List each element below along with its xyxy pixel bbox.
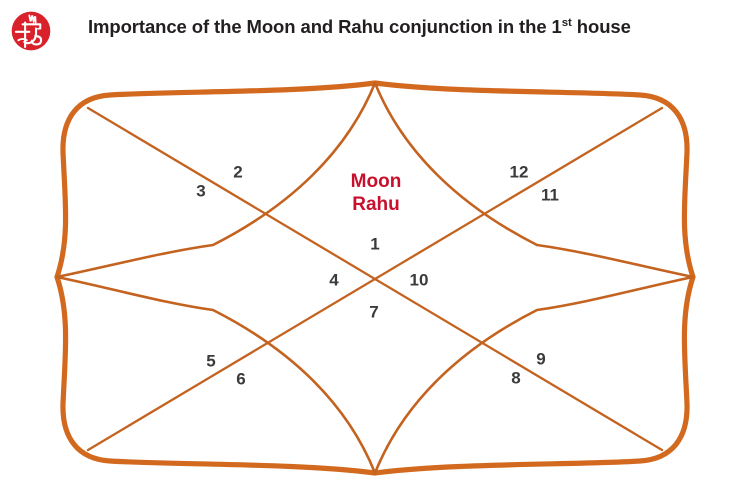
house-number-3: 3 [196, 181, 205, 200]
house-number-12: 12 [510, 162, 529, 181]
page-title-prefix: Importance of the Moon and Rahu conjunct… [88, 16, 562, 37]
page-title: Importance of the Moon and Rahu conjunct… [88, 14, 728, 40]
house-number-2: 2 [233, 162, 242, 181]
house-number-4: 4 [329, 270, 339, 289]
kundli-svg: Moon Rahu 1 2 3 4 5 6 7 8 9 10 11 12 [0, 60, 750, 500]
ganesha-logo-icon [10, 10, 52, 52]
house-number-9: 9 [536, 349, 545, 368]
house-number-7: 7 [369, 302, 378, 321]
house-number-5: 5 [206, 351, 215, 370]
kundli-chart: Moon Rahu 1 2 3 4 5 6 7 8 9 10 11 12 [0, 60, 750, 500]
planet-label-moon: Moon [351, 171, 402, 192]
house-number-6: 6 [236, 369, 245, 388]
petal-top-right [375, 83, 693, 277]
planet-label-rahu: Rahu [352, 194, 400, 215]
house-number-11: 11 [541, 185, 559, 204]
planet-labels-group: Moon Rahu [351, 171, 402, 215]
petal-top-left [57, 83, 375, 277]
house-number-10: 10 [410, 270, 429, 289]
page-title-suffix: house [572, 16, 631, 37]
screenshot-root: Importance of the Moon and Rahu conjunct… [0, 0, 750, 500]
house-number-1: 1 [370, 234, 379, 253]
house-number-8: 8 [511, 368, 520, 387]
page-header: Importance of the Moon and Rahu conjunct… [0, 0, 750, 62]
page-title-superscript: st [562, 17, 572, 29]
